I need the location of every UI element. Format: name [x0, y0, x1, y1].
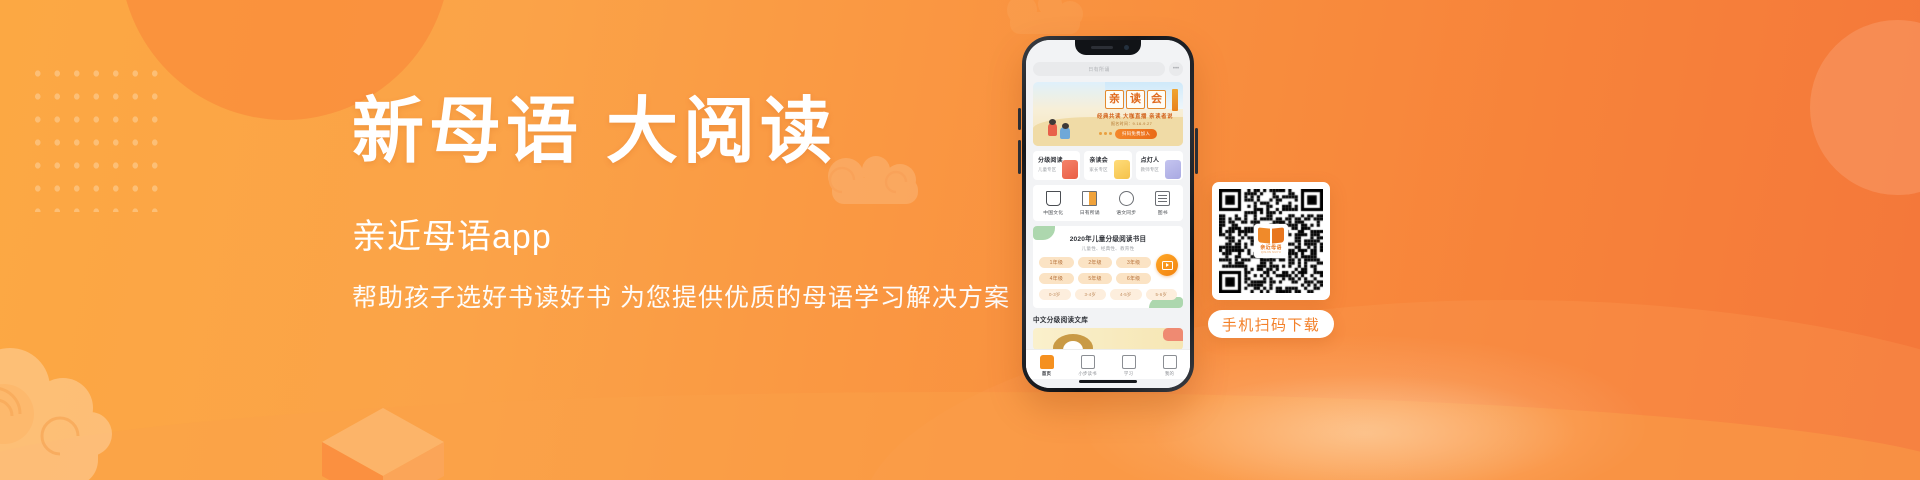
isometric-cube	[318, 400, 448, 480]
tab-reading[interactable]: 小步读书	[1067, 355, 1108, 377]
hero-subtitle: 经典共读 大咖直播 亲读者说	[1097, 112, 1173, 120]
download-button[interactable]: 手机扫码下载	[1208, 310, 1334, 338]
book-icon	[1081, 355, 1095, 369]
qr-center-logo: 亲近母语 QINJIN MUYU	[1254, 224, 1288, 258]
hero-title-char-2: 会	[1147, 90, 1166, 109]
phone-glow-inner	[1150, 374, 1580, 480]
quick-icon-item[interactable]: 图书	[1145, 191, 1182, 216]
tab-label: 首页	[1026, 371, 1067, 377]
age-chip[interactable]: 5-6岁	[1146, 289, 1178, 300]
quick-icon-label: 日有所诵	[1072, 209, 1109, 216]
phone-volume-button	[1018, 140, 1021, 174]
quick-icon-row: 中国文化 日有所诵 语文同步 图书	[1033, 185, 1183, 221]
category-card-art	[1114, 160, 1130, 179]
banner-subline: 亲近母语app	[352, 216, 1012, 258]
phone-mockup: 日有所诵 ••• 亲 读 会 经典共读 大咖直播 亲读者说	[1022, 36, 1194, 392]
banner-headline: 新母语 大阅读	[352, 92, 1012, 172]
book-logo-icon	[1258, 228, 1284, 243]
hero-title-char-1: 读	[1126, 90, 1145, 109]
background-curve-bottom	[0, 392, 1920, 480]
category-card-art	[1062, 160, 1078, 179]
age-row: 0-3岁 3-4岁 4-5岁 5-6岁	[1039, 289, 1177, 300]
tab-label: 我的	[1149, 371, 1190, 377]
open-book-icon	[1082, 191, 1097, 206]
copy-block: 新母语 大阅读 亲近母语app 帮助孩子选好书读好书 为您提供优质的母语学习解决…	[352, 92, 1012, 314]
banner-tagline: 帮助孩子选好书读好书 为您提供优质的母语学习解决方案	[352, 282, 1012, 314]
phone-power-button	[1195, 128, 1198, 174]
qr-code-card[interactable]: 亲近母语 QINJIN MUYU	[1212, 182, 1330, 300]
bottom-tab-bar: 首页 小步读书 学习 我的	[1026, 349, 1190, 379]
camera-icon	[1119, 191, 1134, 206]
tab-profile[interactable]: 我的	[1149, 355, 1190, 377]
library-card-tag	[1163, 328, 1183, 341]
circle-ornament-top-right	[1810, 20, 1920, 195]
hero-date: 报名时间：9.16-9.27	[1111, 121, 1152, 127]
quick-icon-label: 图书	[1145, 209, 1182, 216]
user-icon	[1163, 355, 1177, 369]
grade-chip[interactable]: 3年级	[1116, 257, 1151, 268]
phone-mute-button	[1018, 108, 1021, 130]
hero-carousel-dots	[1099, 132, 1112, 135]
ellipsis-icon[interactable]: •••	[1169, 62, 1183, 76]
home-indicator	[1079, 380, 1137, 383]
quick-icon-label: 中国文化	[1035, 209, 1072, 216]
phone-notch	[1075, 40, 1141, 55]
quick-icon-item[interactable]: 语文同步	[1108, 191, 1145, 216]
grade-row-1: 1年级 2年级 3年级	[1039, 257, 1177, 268]
age-chip[interactable]: 3-4岁	[1075, 289, 1107, 300]
category-card-art	[1165, 160, 1181, 179]
book-lines-icon	[1155, 191, 1170, 206]
hero-banner[interactable]: 亲 读 会 经典共读 大咖直播 亲读者说 报名时间：9.16-9.27 扫码免费…	[1033, 82, 1183, 146]
quick-icon-item[interactable]: 日有所诵	[1072, 191, 1109, 216]
search-placeholder: 日有所诵	[1088, 66, 1110, 73]
quick-icon-label: 语文同步	[1108, 209, 1145, 216]
category-card[interactable]: 亲读会 家长专区	[1084, 151, 1131, 180]
category-card[interactable]: 点灯人 教师专区	[1136, 151, 1183, 180]
age-chip[interactable]: 4-5岁	[1110, 289, 1142, 300]
booklist-title: 2020年儿童分级阅读书目	[1039, 233, 1177, 243]
tab-label: 学习	[1108, 371, 1149, 377]
hero-cta-button[interactable]: 扫码免费加入	[1115, 129, 1157, 139]
category-cards: 分级阅读 儿童专区 亲读会 家长专区 点灯人 教师专区	[1033, 151, 1183, 180]
grade-chip[interactable]: 6年级	[1116, 273, 1151, 284]
hero-title: 亲 读 会	[1105, 90, 1166, 109]
booklist-subtitle: 儿童性、经典性、教育性	[1039, 246, 1177, 252]
tab-study[interactable]: 学习	[1108, 355, 1149, 377]
qr-logo-sub: QINJIN MUYU	[1261, 251, 1281, 254]
tab-label: 小步读书	[1067, 371, 1108, 377]
library-section-title: 中文分级阅读文库	[1033, 314, 1183, 324]
category-card[interactable]: 分级阅读 儿童专区	[1033, 151, 1080, 180]
dot-grid-pattern	[28, 62, 168, 212]
background-curve-right	[860, 300, 1920, 480]
promo-banner: 新母语 大阅读 亲近母语app 帮助孩子选好书读好书 为您提供优质的母语学习解决…	[0, 0, 1920, 480]
grade-chip[interactable]: 1年级	[1039, 257, 1074, 268]
phone-screen: 日有所诵 ••• 亲 读 会 经典共读 大咖直播 亲读者说	[1026, 40, 1190, 388]
quick-icon-item[interactable]: 中国文化	[1035, 191, 1072, 216]
hero-ribbon	[1172, 89, 1178, 111]
grade-row-2: 4年级 5年级 6年级	[1039, 273, 1177, 284]
chinese-cloud-ornament-right	[1000, 0, 1090, 38]
clipboard-icon	[1122, 355, 1136, 369]
hero-title-char-0: 亲	[1105, 90, 1124, 109]
grade-chip[interactable]: 4年级	[1039, 273, 1074, 284]
ink-brush-icon	[1046, 191, 1061, 206]
library-card[interactable]	[1033, 328, 1183, 350]
booklist-card: 2020年儿童分级阅读书目 儿童性、经典性、教育性 1年级 2年级 3年级 4年…	[1033, 226, 1183, 308]
grade-chip[interactable]: 5年级	[1078, 273, 1113, 284]
chinese-cloud-ornament-left	[0, 336, 188, 480]
qr-logo-name: 亲近母语	[1260, 244, 1282, 251]
tab-home[interactable]: 首页	[1026, 355, 1067, 377]
search-input[interactable]: 日有所诵	[1033, 62, 1165, 76]
home-icon	[1040, 355, 1054, 369]
hero-child-right	[1060, 127, 1070, 139]
grade-chip[interactable]: 2年级	[1078, 257, 1113, 268]
app-screen: 日有所诵 ••• 亲 读 会 经典共读 大咖直播 亲读者说	[1026, 40, 1190, 388]
qr-code: 亲近母语 QINJIN MUYU	[1219, 189, 1323, 293]
app-search-row: 日有所诵 •••	[1033, 62, 1183, 76]
hero-child-left	[1048, 123, 1057, 136]
age-chip[interactable]: 0-3岁	[1039, 289, 1071, 300]
